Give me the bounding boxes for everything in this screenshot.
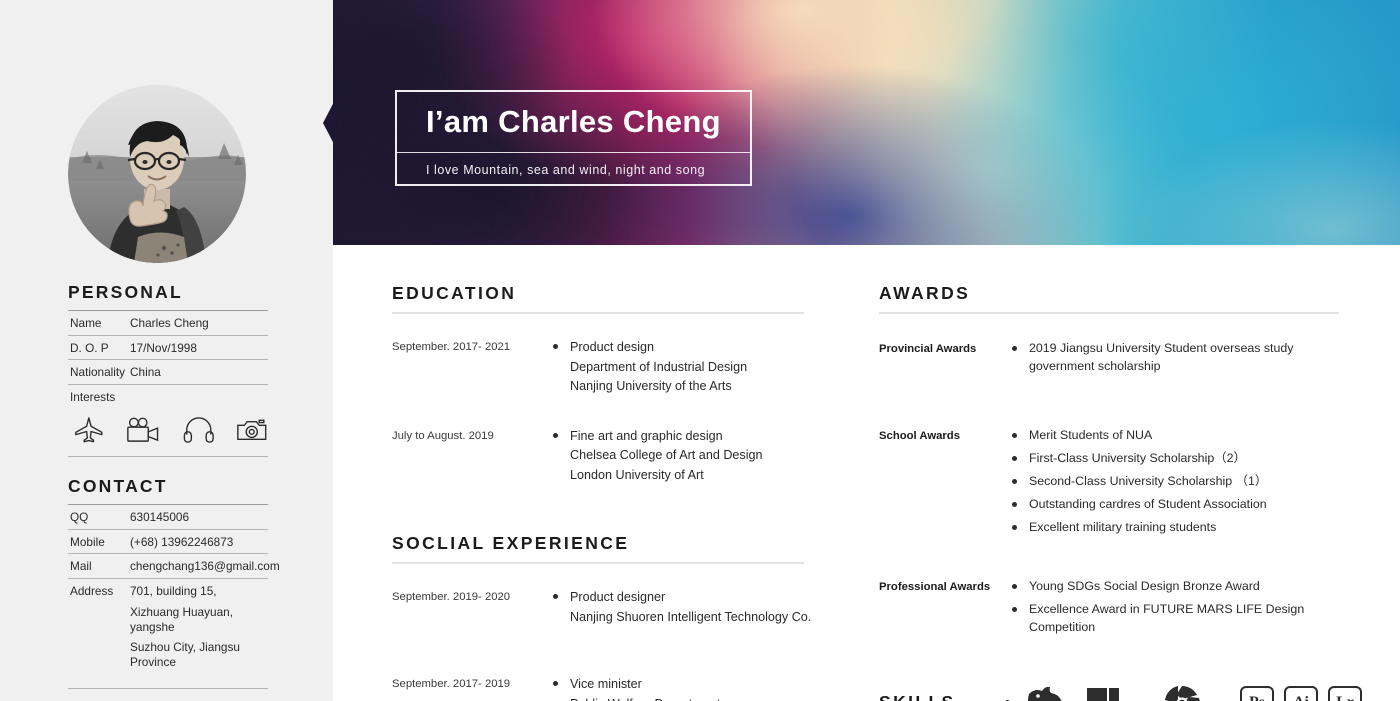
address-line-2: Xizhuang Huayuan, yangshe <box>130 599 268 634</box>
entry-line: London University of Art <box>570 466 804 486</box>
photoshop-label: Ps <box>1249 694 1265 701</box>
experience-entry: September. 2017- 2019 Vice minister Publ… <box>392 675 804 701</box>
divider <box>879 312 1339 314</box>
skills-heading: SKILLS <box>879 692 1005 701</box>
education-column: EDUCATION September. 2017- 2021 Product … <box>392 283 804 701</box>
contact-section: CONTACT QQ 630145006 Mobile (+68) 139622… <box>68 476 268 689</box>
award-item: 2019 Jiangsu University Student overseas… <box>1011 340 1339 376</box>
award-item: First-Class University Scholarship（2） <box>1011 450 1339 468</box>
award-text-cont: government scholarship <box>1029 358 1339 376</box>
divider <box>392 312 804 314</box>
experience-entry: September. 2019- 2020 Product designer N… <box>392 588 804 627</box>
award-group-professional: Professional Awards Young SDGs Social De… <box>879 578 1339 642</box>
social-experience-section: SOCLIAL EXPERIENCE September. 2019- 2020… <box>392 533 804 701</box>
divider <box>68 688 268 689</box>
entry-line: Product designer <box>570 588 811 608</box>
keyshot-icon <box>1162 684 1202 701</box>
headphones-icon <box>183 415 215 445</box>
education-entry: July to August. 2019 Fine art and graphi… <box>392 427 804 486</box>
lightroom-label: Lr <box>1336 694 1354 701</box>
field-value: China <box>130 365 161 380</box>
personal-heading: PERSONAL <box>68 282 268 303</box>
skills-row: SKILLS <box>879 684 1339 701</box>
award-item: Excellence Award in FUTURE MARS LIFE Des… <box>1011 601 1339 637</box>
entry-line: Public Welfare Department <box>570 695 804 701</box>
field-label: D. O. P <box>70 341 130 356</box>
award-item: Second-Class University Scholarship （1） <box>1011 473 1339 491</box>
personal-section: PERSONAL Name Charles Cheng D. O. P 17/N… <box>68 282 268 457</box>
avatar <box>68 85 246 263</box>
field-label: Mobile <box>70 535 130 550</box>
entry-line: Product design <box>570 338 804 358</box>
award-group-provincial: Provincial Awards 2019 Jiangsu Universit… <box>879 340 1339 381</box>
entry-date: July to August. 2019 <box>392 427 552 486</box>
movie-camera-icon <box>126 416 161 444</box>
award-list: Merit Students of NUA First-Class Univer… <box>1005 427 1339 542</box>
contact-row-address: Address 701, building 15, Xizhuang Huayu… <box>68 579 268 674</box>
field-value: 701, building 15, Xizhuang Huayuan, yang… <box>130 584 268 670</box>
resume-page: PERSONAL Name Charles Cheng D. O. P 17/N… <box>0 0 1400 701</box>
field-value: 630145006 <box>130 510 189 525</box>
entry-date: September. 2019- 2020 <box>392 588 552 627</box>
award-item: Outstanding cardres of Student Associati… <box>1011 496 1339 514</box>
award-item: Excellent military training students <box>1011 519 1339 537</box>
entry-line: Chelsea College of Art and Design <box>570 446 804 466</box>
interests-icon-row <box>68 404 268 456</box>
title-box: I’am Charles Cheng I love Mountain, sea … <box>395 90 752 186</box>
field-value: 17/Nov/1998 <box>130 341 197 356</box>
rhino-icon <box>1024 685 1070 701</box>
contact-row-qq: QQ 630145006 <box>68 505 268 530</box>
award-group-school: School Awards Merit Students of NUA Firs… <box>879 427 1339 542</box>
entry-body: Product designer Nanjing Shuoren Intelli… <box>552 588 811 627</box>
education-entry: September. 2017- 2021 Product design Dep… <box>392 338 804 397</box>
award-group-label: School Awards <box>879 427 1005 542</box>
award-list: 2019 Jiangsu University Student overseas… <box>1005 340 1339 381</box>
portrait-photo <box>68 85 246 263</box>
lumion-icon <box>1084 685 1124 701</box>
entry-line: Vice minister <box>570 675 804 695</box>
social-experience-heading: SOCLIAL EXPERIENCE <box>392 533 804 554</box>
divider <box>68 456 268 457</box>
camera-icon <box>236 416 268 444</box>
awards-heading: AWARDS <box>879 283 1339 304</box>
education-section: EDUCATION September. 2017- 2021 Product … <box>392 283 804 485</box>
award-item: Merit Students of NUA <box>1011 427 1339 445</box>
divider <box>392 562 804 564</box>
field-label: QQ <box>70 510 130 525</box>
entry-line: Nanjing Shuoren Intelligent Technology C… <box>570 608 811 628</box>
illustrator-icon: Ai <box>1284 686 1318 701</box>
header-banner: I’am Charles Cheng I love Mountain, sea … <box>333 0 1400 245</box>
field-value: Charles Cheng <box>130 316 209 331</box>
contact-row-mobile: Mobile (+68) 13962246873 <box>68 530 268 555</box>
airplane-icon <box>74 415 104 445</box>
field-label: Nationality <box>70 365 130 380</box>
awards-column: AWARDS Provincial Awards 2019 Jiangsu Un… <box>879 283 1339 701</box>
page-title: I’am Charles Cheng <box>397 92 750 153</box>
page-subtitle: I love Mountain, sea and wind, night and… <box>397 153 750 186</box>
address-line-1: 701, building 15, <box>130 584 217 598</box>
skills-icon-row: Ps Ai Lr <box>1005 684 1372 701</box>
contact-heading: CONTACT <box>68 476 268 497</box>
photoshop-icon: Ps <box>1240 686 1274 701</box>
lightroom-icon: Lr <box>1328 686 1362 701</box>
personal-row-dop: D. O. P 17/Nov/1998 <box>68 336 268 361</box>
field-label: Mail <box>70 559 130 574</box>
illustrator-label: Ai <box>1293 694 1309 701</box>
award-group-label: Professional Awards <box>879 578 1005 642</box>
entry-line: Fine art and graphic design <box>570 427 804 447</box>
personal-row-name: Name Charles Cheng <box>68 311 268 336</box>
address-line-3: Suzhou City, Jiangsu Province <box>130 634 268 669</box>
field-label: Name <box>70 316 130 331</box>
entry-line: Department of Industrial Design <box>570 358 804 378</box>
skills-section: SKILLS <box>879 684 1339 701</box>
award-item: Young SDGs Social Design Bronze Award <box>1011 578 1339 596</box>
entry-body: Product design Department of Industrial … <box>552 338 804 397</box>
field-label: Address <box>70 584 130 599</box>
award-group-label: Provincial Awards <box>879 340 1005 381</box>
entry-date: September. 2017- 2019 <box>392 675 552 701</box>
entry-body: Vice minister Public Welfare Department … <box>552 675 804 701</box>
entry-body: Fine art and graphic design Chelsea Coll… <box>552 427 804 486</box>
field-value: (+68) 13962246873 <box>130 535 233 550</box>
personal-row-nationality: Nationality China <box>68 360 268 385</box>
education-heading: EDUCATION <box>392 283 804 304</box>
entry-date: September. 2017- 2021 <box>392 338 552 397</box>
field-value: chengchang136@gmail.com <box>130 559 280 574</box>
award-list: Young SDGs Social Design Bronze Award Ex… <box>1005 578 1339 642</box>
sidebar: PERSONAL Name Charles Cheng D. O. P 17/N… <box>0 0 333 701</box>
interests-label: Interests <box>68 385 268 404</box>
award-text: 2019 Jiangsu University Student overseas… <box>1029 341 1293 355</box>
entry-line: Nanjing University of the Arts <box>570 377 804 397</box>
contact-row-mail[interactable]: Mail chengchang136@gmail.com <box>68 554 268 579</box>
